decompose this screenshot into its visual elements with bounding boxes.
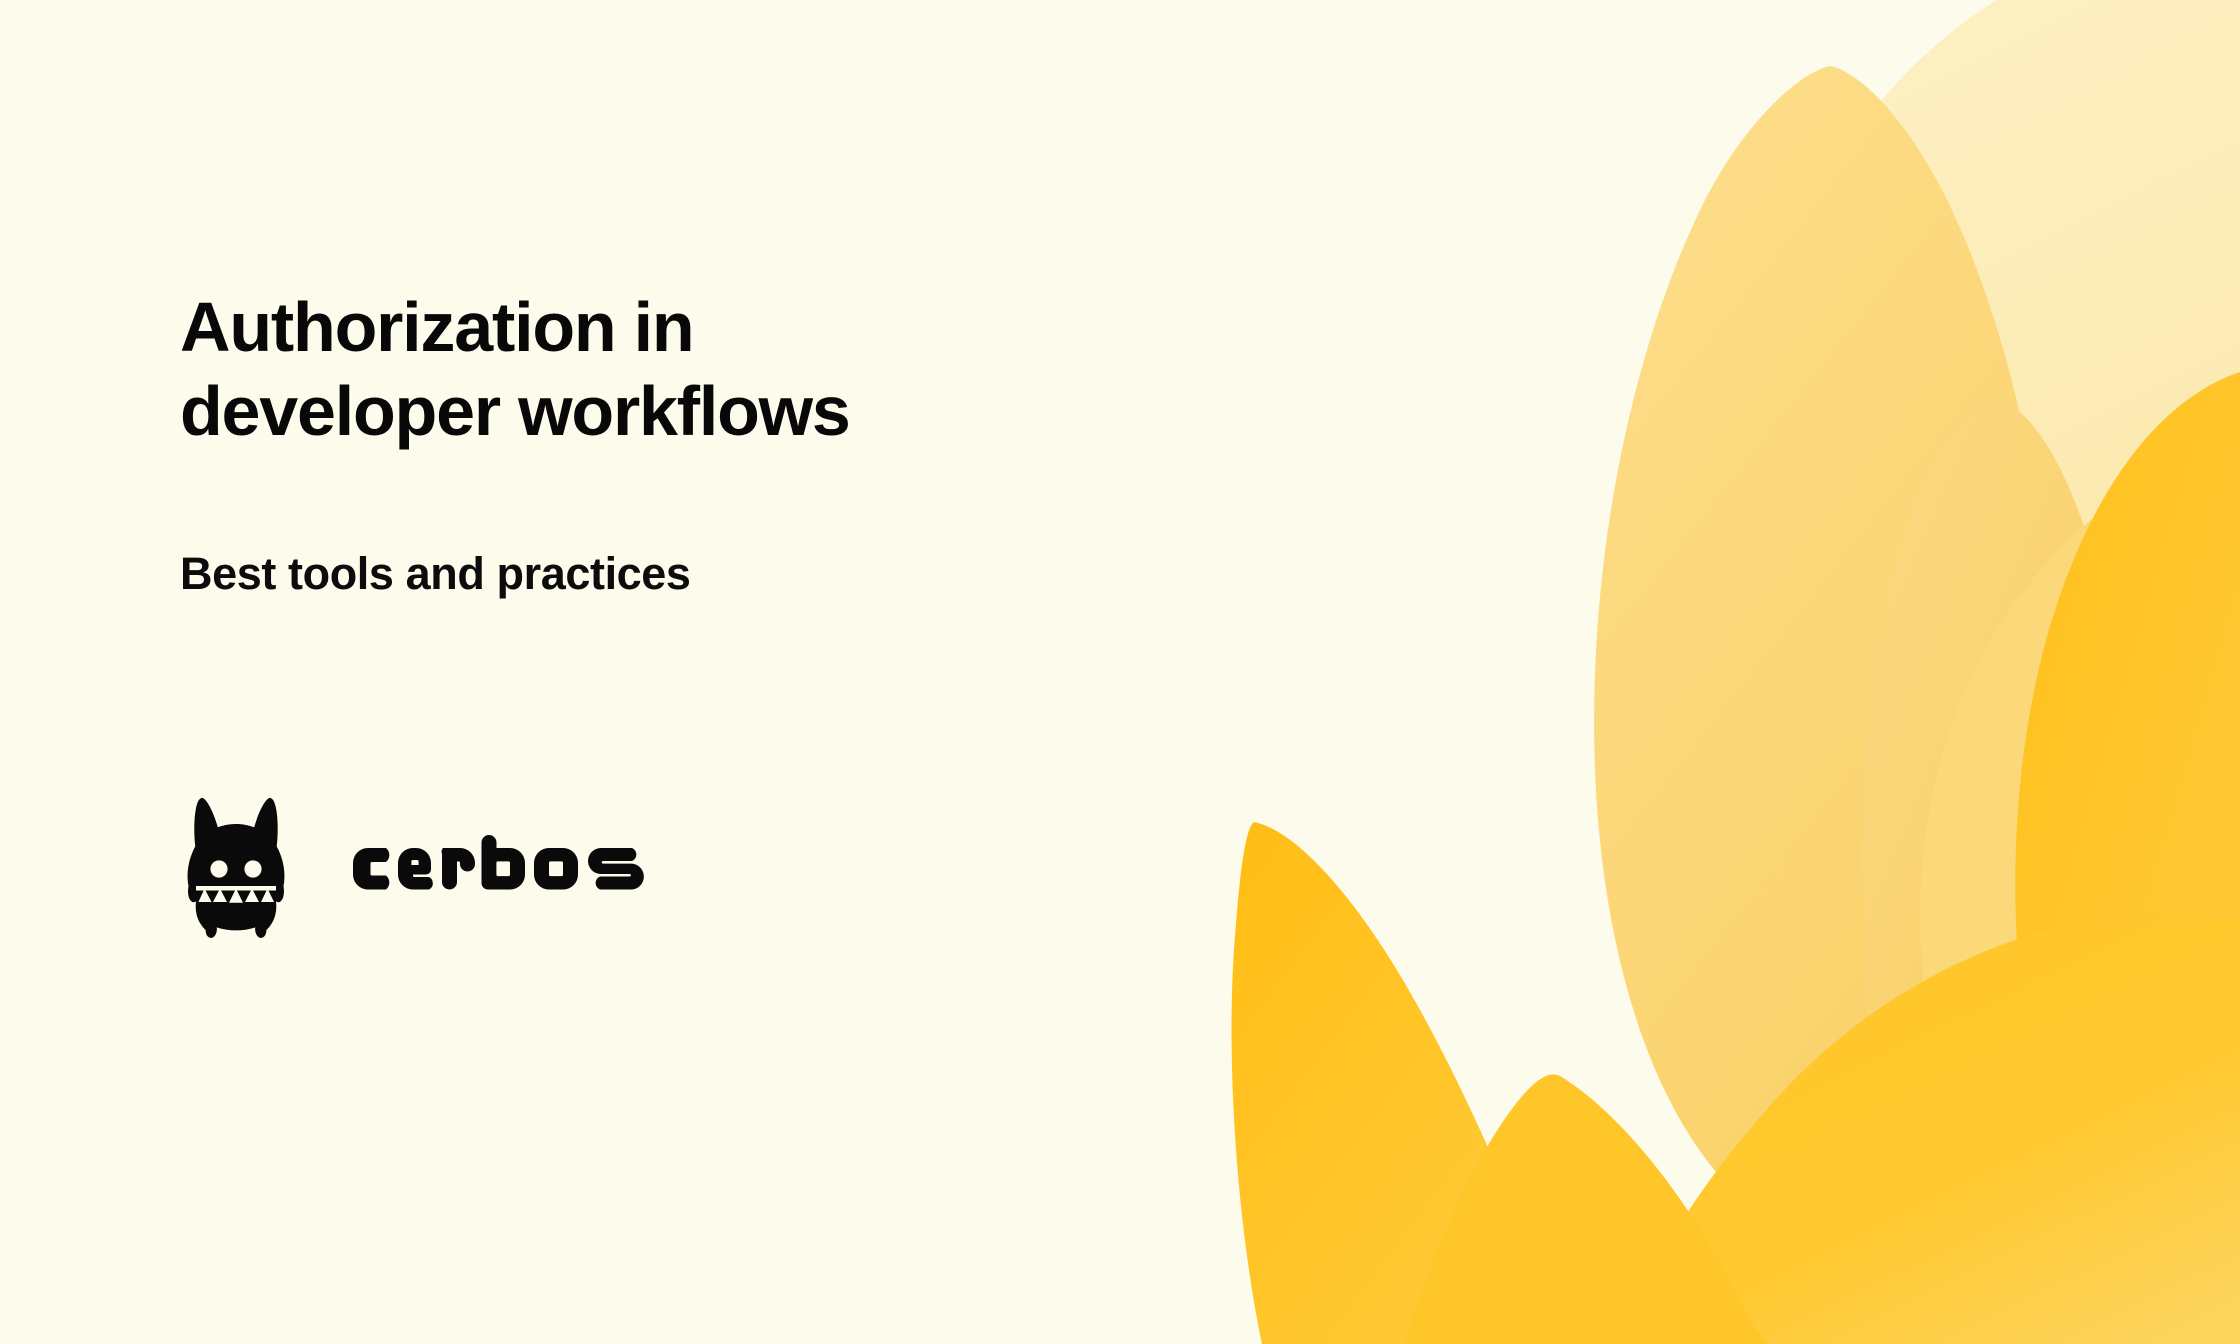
- flame-petal-foreground: [1404, 1074, 1770, 1344]
- page-title: Authorization in developer workflows: [180, 285, 960, 453]
- mascot-eye-left: [210, 860, 227, 877]
- flame-graphic: [0, 0, 2240, 1344]
- brand-logo-lockup[interactable]: cerbos: [180, 790, 656, 940]
- flame-petal-mid-right: [1862, 405, 2128, 1301]
- flame-petal-strong-left: [1232, 822, 1578, 1344]
- cerbos-mascot-icon: [180, 790, 292, 940]
- mascot-eye-right: [244, 860, 261, 877]
- cerbos-wordmark-icon: [344, 834, 656, 896]
- flame-petal-pale-center: [1711, 0, 2240, 1044]
- flame-petal-strong-right: [2015, 372, 2240, 1344]
- share-card: Authorization in developer workflows Bes…: [0, 0, 2240, 1344]
- flame-base: [1622, 913, 2240, 1344]
- flame-petal-mid-tall: [1594, 66, 2053, 1227]
- flame-petal-pale-far-right: [1900, 0, 2240, 700]
- card-text-block: Authorization in developer workflows Bes…: [180, 285, 1240, 601]
- page-subtitle: Best tools and practices: [180, 547, 1240, 601]
- flame-body-mid: [1920, 440, 2240, 1344]
